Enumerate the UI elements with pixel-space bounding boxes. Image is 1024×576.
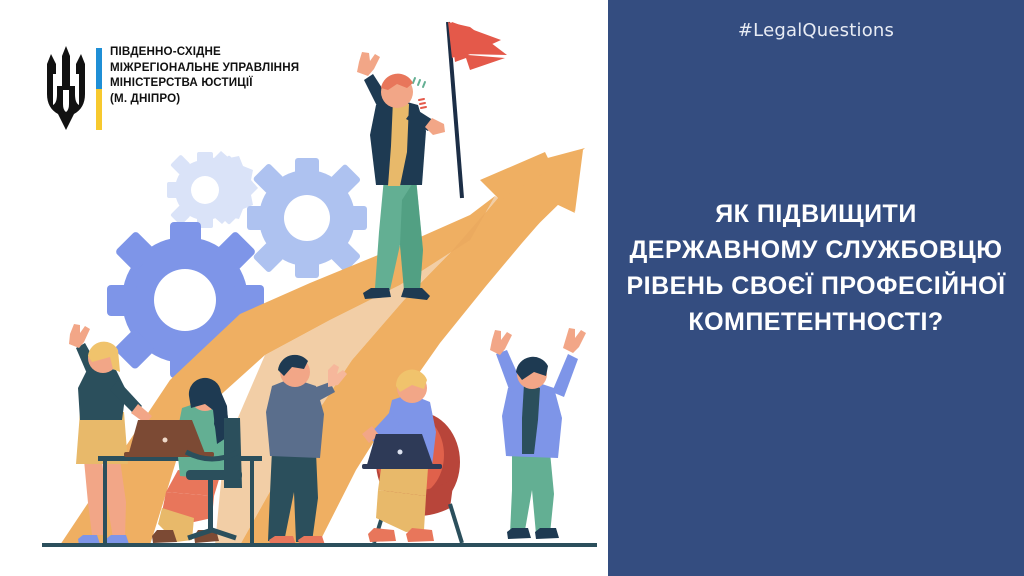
poster-canvas: ПІВДЕННО-СХІДНЕ МІЖРЕГІОНАЛЬНЕ УПРАВЛІНН… [0,0,1024,576]
org-line-2: МІЖРЕГІОНАЛЬНЕ УПРАВЛІННЯ [110,60,340,76]
person-jumping-man [490,328,586,539]
gear-small-icon [167,151,258,228]
org-line-4: (М. ДНІПРО) [110,91,340,107]
headline-line-3: РІВЕНЬ СВОЄЇ ПРОФЕСІЙНОЇ [616,268,1016,304]
organization-name: ПІВДЕННО-СХІДНЕ МІЖРЕГІОНАЛЬНЕ УПРАВЛІНН… [110,44,340,106]
org-line-1: ПІВДЕННО-СХІДНЕ [110,44,340,60]
headline-panel: #LegalQuestions ЯК ПІДВИЩИТИ ДЕРЖАВНОМУ … [608,0,1024,576]
gear-medium-icon [247,158,367,278]
ukrainian-tryzub-icon [40,44,92,134]
headline-line-1: ЯК ПІДВИЩИТИ [616,196,1016,232]
hashtag-label: #LegalQuestions [608,20,1024,41]
organization-logo: ПІВДЕННО-СХІДНЕ МІЖРЕГІОНАЛЬНЕ УПРАВЛІНН… [40,42,340,137]
org-line-3: МІНІСТЕРСТВА ЮСТИЦІЇ [110,75,340,91]
headline-line-2: ДЕРЖАВНОМУ СЛУЖБОВЦЮ [616,232,1016,268]
ukraine-flag-bar [96,48,102,130]
headline-line-4: КОМПЕТЕНТНОСТІ? [616,304,1016,340]
headline: ЯК ПІДВИЩИТИ ДЕРЖАВНОМУ СЛУЖБОВЦЮ РІВЕНЬ… [616,196,1016,340]
